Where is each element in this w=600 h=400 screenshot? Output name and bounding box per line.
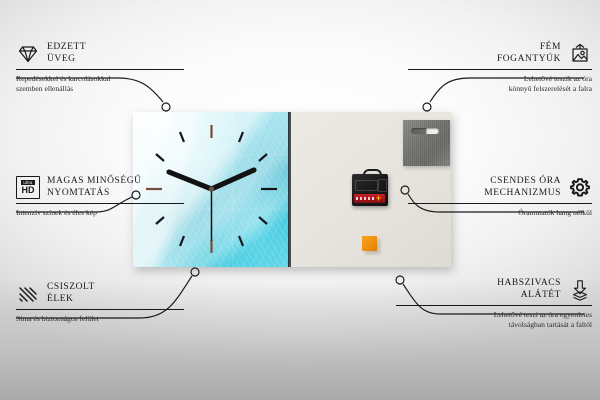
feature-desc: Lehetővé teszi az óra egyenletes távolsá… xyxy=(396,310,592,329)
feature-title: CSENDES ÓRA MECHANIZMUS xyxy=(484,176,561,199)
feature-desc: Sima és biztonságos felület xyxy=(16,314,184,324)
feature-desc-line1: Lehetővé teszik az óra xyxy=(408,74,592,84)
ultra-hd-badge-icon: ultra HD xyxy=(16,177,40,199)
feature-desc: Intenzív színek és éles kép xyxy=(16,208,184,218)
feature-desc-line1: Lehetővé teszi az óra egyenletes xyxy=(396,310,592,320)
feature-desc-line1: Intenzív színek és éles kép xyxy=(16,208,184,218)
feature-head: FÉM FOGANTYÚK xyxy=(408,42,592,65)
feature-title: MAGAS MINŐSÉGŰ NYOMTATÁS xyxy=(47,176,142,199)
feature-desc: Lehetővé teszik az óra könnyű felszerelé… xyxy=(408,74,592,93)
feature-desc-line1: Sima és biztonságos felület xyxy=(16,314,184,324)
feature-desc-line1: Repedésekkel és karcolásokkal xyxy=(16,74,184,84)
feature-desc-line2: távolságban tartását a faltól xyxy=(396,320,592,330)
feature-rule xyxy=(408,69,592,70)
diamond-icon xyxy=(16,43,40,65)
feature-title-line2: ALÁTÉT xyxy=(497,290,561,302)
feature-title: FÉM FOGANTYÚK xyxy=(497,42,561,65)
feature-title: HABSZIVACS ALÁTÉT xyxy=(497,278,561,301)
feature-desc: Repedésekkel és karcolásokkal szemben el… xyxy=(16,74,184,93)
feature-polished-edges: CSISZOLT ÉLEK Sima és biztonságos felüle… xyxy=(16,282,184,324)
feature-hq-print: ultra HD MAGAS MINŐSÉGŰ NYOMTATÁS Intenz… xyxy=(16,176,184,218)
feature-head: ultra HD MAGAS MINŐSÉGŰ NYOMTATÁS xyxy=(16,176,184,199)
feature-tempered-glass: EDZETT ÜVEG Repedésekkel és karcolásokka… xyxy=(16,42,184,93)
feature-title: CSISZOLT ÉLEK xyxy=(47,282,95,305)
feature-title-line2: ÜVEG xyxy=(47,54,86,66)
gear-icon xyxy=(568,177,592,199)
feature-head: EDZETT ÜVEG xyxy=(16,42,184,65)
feature-title-line2: MECHANIZMUS xyxy=(484,188,561,200)
feature-desc-line1: Óramutatók hang nélkül xyxy=(408,208,592,218)
polished-edge-icon xyxy=(16,283,40,305)
feature-title-line2: ÉLEK xyxy=(47,294,95,306)
feature-desc-line2: könnyű felszerelését a falra xyxy=(408,84,592,94)
feature-title-line1: EDZETT xyxy=(47,42,86,54)
product-infographic: + xyxy=(0,0,600,400)
feature-silent-mechanism: CSENDES ÓRA MECHANIZMUS Óramutatók hang … xyxy=(408,176,592,218)
feature-foam-pad: HABSZIVACS ALÁTÉT Lehetővé teszi az óra … xyxy=(396,278,592,329)
feature-rule xyxy=(396,305,592,306)
feature-head: CSISZOLT ÉLEK xyxy=(16,282,184,305)
feature-title-line2: NYOMTATÁS xyxy=(47,188,142,200)
feature-head: HABSZIVACS ALÁTÉT xyxy=(396,278,592,301)
feature-metal-handles: FÉM FOGANTYÚK Lehetővé teszik az óra kö xyxy=(408,42,592,93)
feature-title-line1: CSENDES ÓRA xyxy=(484,176,561,188)
feature-rule xyxy=(16,309,184,310)
feature-title-line1: CSISZOLT xyxy=(47,282,95,294)
feature-title-line1: FÉM xyxy=(497,42,561,54)
feature-desc: Óramutatók hang nélkül xyxy=(408,208,592,218)
feature-title-line1: HABSZIVACS xyxy=(497,278,561,290)
feature-title: EDZETT ÜVEG xyxy=(47,42,86,65)
feature-head: CSENDES ÓRA MECHANIZMUS xyxy=(408,176,592,199)
feature-rule xyxy=(408,203,592,204)
feature-rule xyxy=(16,69,184,70)
picture-hanger-icon xyxy=(568,43,592,65)
feature-desc-line2: szemben ellenállás xyxy=(16,84,184,94)
feature-rule xyxy=(16,203,184,204)
press-down-icon xyxy=(568,279,592,301)
feature-title-line1: MAGAS MINŐSÉGŰ xyxy=(47,176,142,188)
feature-title-line2: FOGANTYÚK xyxy=(497,54,561,66)
